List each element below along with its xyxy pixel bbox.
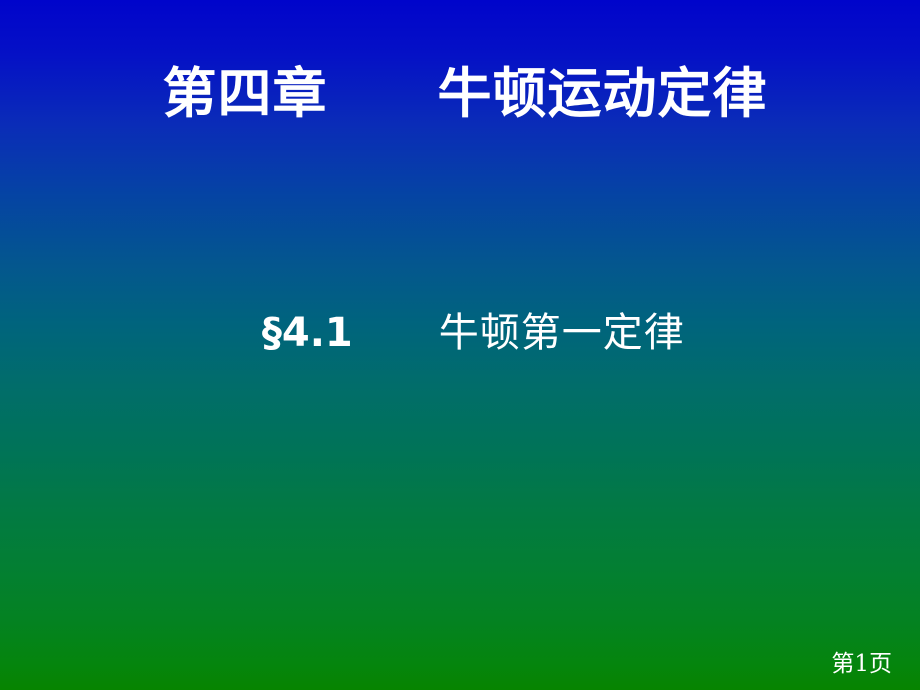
slide-title: 第四章 牛顿运动定律	[0, 62, 920, 126]
subtitle-row: §4.1牛顿第一定律	[235, 290, 685, 376]
page-number-footer: 第1页	[831, 650, 892, 680]
section-title-text: 牛顿第一定律	[439, 310, 685, 356]
slide-subtitle: §4.1牛顿第一定律	[0, 290, 920, 376]
presentation-slide: 第四章 牛顿运动定律 §4.1牛顿第一定律 第1页	[0, 0, 920, 690]
section-number: §4.1	[262, 310, 353, 356]
chapter-title-text: 第四章 牛顿运动定律	[163, 62, 768, 126]
